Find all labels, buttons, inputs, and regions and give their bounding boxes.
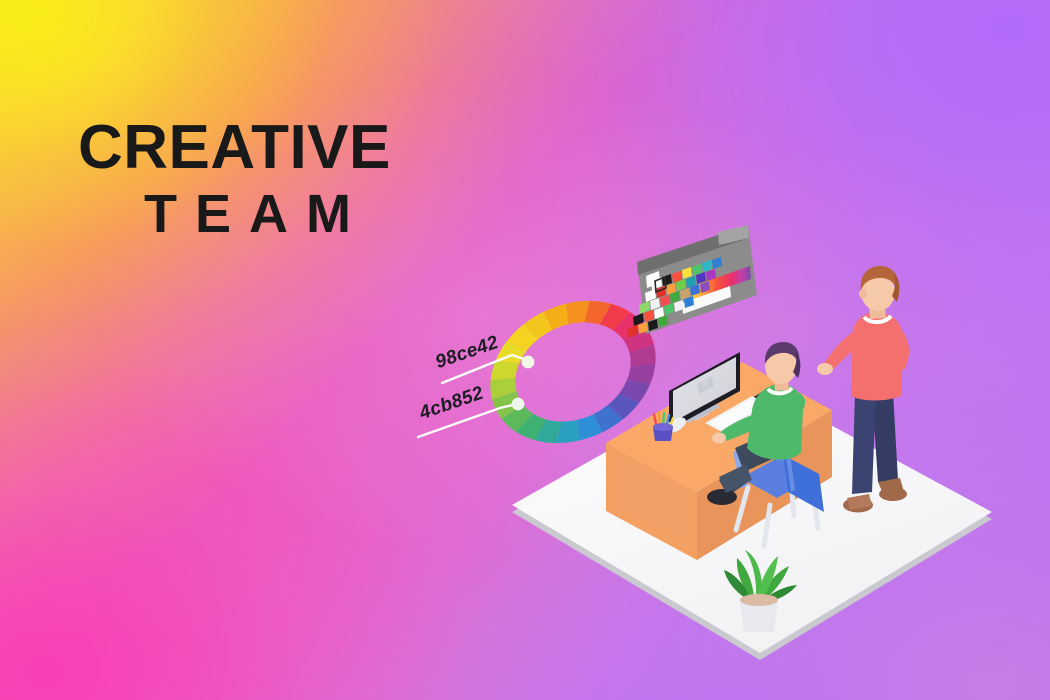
headline-line-creative: CREATIVE (78, 118, 391, 179)
swatch-dot-98ce42 (522, 356, 535, 369)
isometric-workspace-illustration (0, 0, 1050, 700)
headline-block: CREATIVE TEAM (78, 118, 391, 241)
design-app-window (627, 225, 757, 338)
poster-canvas: CREATIVE TEAM 98ce42 4cb852 (0, 0, 1050, 700)
headline-line-team: TEAM (144, 187, 391, 241)
swatch-dot-4cb852 (512, 398, 525, 411)
